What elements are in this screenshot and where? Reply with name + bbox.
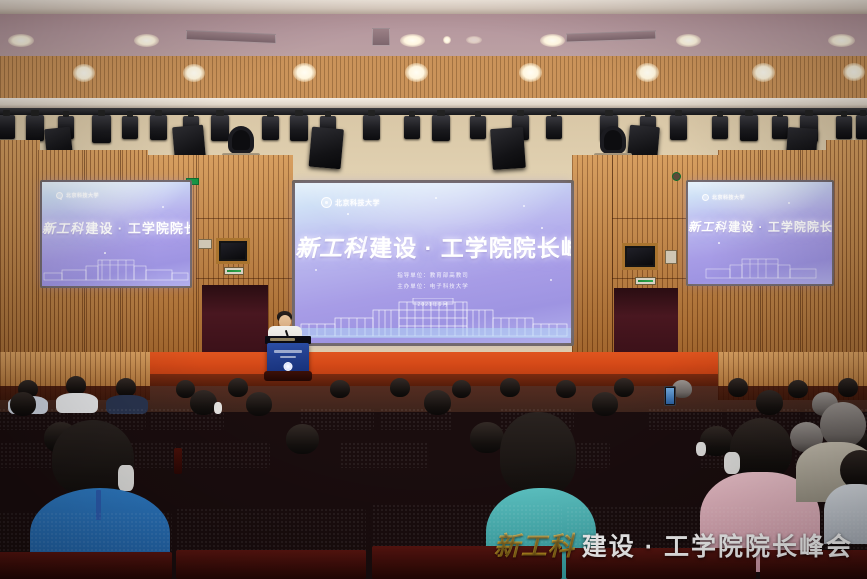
smartphone-icon[interactable]: [664, 386, 676, 406]
ceiling-downlight: [443, 36, 451, 44]
stage-light-fixture: [856, 115, 867, 139]
wall-panel-seam: [196, 218, 292, 219]
main-screen-logo-text: 北京科技大学: [335, 198, 380, 208]
stage-light-fixture: [712, 116, 728, 139]
watermark-white-text: 建设 · 工学院院长峰会: [582, 527, 853, 563]
stage-light-fixture: [262, 116, 279, 140]
audience-head: [246, 392, 272, 416]
right-projection-screen: 北京科技大学 新工科建设 · 工学院院长峰会: [688, 182, 832, 284]
hanging-speaker: [309, 127, 344, 170]
left-screen-logo: 北京科技大学: [56, 192, 99, 199]
hvac-ceiling-box-icon: [372, 28, 390, 46]
watermark-gold-text: 新工科: [494, 526, 575, 563]
stage-light-fixture: [0, 115, 15, 139]
left-screen-subline: [42, 245, 190, 250]
main-screen-title-rest: 建设 · 工学院院长峰会: [369, 235, 571, 261]
stage-light-fixture: [363, 115, 380, 140]
audience-head: [286, 424, 319, 454]
university-emblem-icon: [56, 192, 63, 199]
seat-wood-trim: [176, 550, 366, 579]
ceiling-downlight: [400, 34, 425, 47]
main-projection-screen: 北京科技大学 新工科建设 · 工学院院长峰会 指导单位：教育部高教司 主办单位：…: [295, 183, 571, 343]
ceiling-top-rim: [0, 0, 867, 14]
right-screen-title: 新工科建设 · 工学院院长峰会: [688, 218, 832, 235]
podium-plate-line-2: [280, 356, 296, 358]
stage-light-fixture: [740, 115, 758, 141]
face-mask-icon: [214, 402, 222, 414]
wall-control-box[interactable]: [198, 239, 212, 249]
main-screen-title-cursive: 新工科: [295, 236, 367, 261]
audience-head: [10, 392, 36, 416]
ceiling-downlight: [466, 36, 482, 44]
wall-monitor-icon: [622, 243, 658, 270]
ceiling-wood-slat-band: [0, 56, 867, 102]
ceiling-downlight: [636, 63, 659, 82]
stage-light-fixture: [122, 116, 138, 139]
stage-light-fixture: [432, 115, 450, 141]
main-screen-title: 新工科建设 · 工学院院长峰会: [295, 229, 571, 263]
moving-head-light: [600, 126, 626, 154]
main-screen-subline-2: 主办单位：电子科技大学: [295, 282, 571, 290]
ceiling-downlight: [828, 34, 855, 47]
moving-head-light: [228, 126, 254, 154]
ceiling-downlight: [540, 34, 565, 47]
left-screen-logo-text: 北京科技大学: [66, 192, 99, 199]
university-seal-icon: [284, 362, 293, 371]
face-mask-icon: [724, 452, 740, 474]
wall-panel-seam: [196, 155, 197, 355]
wall-panel-seam: [612, 155, 613, 355]
event-watermark: 新工科 建设 · 工学院院长峰会: [494, 526, 853, 563]
ceiling-plaster-band: [0, 14, 867, 62]
ceiling-downlight: [183, 64, 205, 82]
stage-door-icon[interactable]: [614, 288, 678, 358]
wall-control-box[interactable]: [665, 250, 677, 264]
ceiling-downlight: [8, 34, 34, 47]
exit-sign-icon: [672, 172, 681, 181]
wall-indicator-sign: [635, 277, 656, 285]
stage-light-fixture: [836, 116, 852, 139]
audience-head: [190, 390, 217, 415]
ceiling-downlight: [134, 34, 159, 47]
ceiling-downlight: [73, 64, 95, 82]
right-screen-title-cursive: 新工科: [688, 220, 727, 234]
university-emblem-icon: [321, 197, 332, 208]
audience-head: [592, 392, 618, 416]
speaker-podium[interactable]: [267, 343, 309, 373]
stage-door-icon[interactable]: [202, 285, 268, 357]
wall-panel-seam: [196, 278, 292, 279]
seat-wood-trim: [0, 552, 172, 579]
university-emblem-icon: [702, 194, 709, 201]
left-screen-title-cursive: 新工科: [42, 221, 84, 236]
left-projection-screen: 北京科技大学 新工科建设 · 工学院院长峰会: [42, 182, 190, 286]
left-screen-building-illustration: [42, 255, 190, 286]
auditorium-seat-foreground[interactable]: [176, 508, 366, 556]
stage-light-fixture: [470, 116, 486, 139]
podium-plate-line-1: [274, 350, 302, 353]
ceiling-downlight: [519, 63, 542, 82]
main-screen-logo: 北京科技大学: [321, 197, 380, 208]
main-screen-building-illustration: [295, 298, 571, 343]
stage-light-fixture: [290, 115, 308, 141]
auditorium-scene: 北京科技大学 新工科建设 · 工学院院长峰会 北京科技大学: [0, 0, 867, 579]
stage-light-fixture: [150, 115, 167, 140]
right-screen-title-rest: 建设 · 工学院院长峰会: [728, 220, 832, 234]
right-screen-logo: 北京科技大学: [702, 194, 745, 201]
audience-head: [424, 390, 451, 415]
stage-light-fixture: [546, 116, 562, 139]
wall-indicator-sign: [224, 267, 244, 275]
left-screen-title: 新工科建设 · 工学院院长峰会: [42, 218, 190, 237]
stage-light-fixture: [211, 115, 229, 141]
right-screen-logo-text: 北京科技大学: [712, 194, 745, 201]
audience-head: [756, 390, 783, 415]
audience-head: [470, 422, 504, 453]
right-screen-building-illustration: [688, 255, 832, 284]
main-screen-subline-1: 指导单位：教育部高教司: [295, 271, 571, 279]
stage-light-fixture: [26, 115, 44, 141]
left-screen-title-rest: 建设 · 工学院院长峰会: [85, 221, 190, 236]
wall-monitor-icon: [216, 238, 250, 264]
face-mask-icon: [696, 442, 706, 456]
stage-light-fixture: [772, 116, 788, 139]
ceiling-downlight: [676, 34, 701, 47]
ceiling-downlight: [293, 63, 316, 82]
face-mask-icon: [118, 465, 134, 491]
ceiling-downlight: [843, 63, 865, 81]
ceiling-downlight: [405, 63, 428, 82]
stage-light-fixture: [404, 116, 420, 139]
hanging-speaker: [490, 127, 526, 170]
stage-light-fixture: [670, 115, 687, 140]
ceiling-downlight: [752, 63, 775, 82]
stage-light-fixture: [92, 115, 111, 143]
